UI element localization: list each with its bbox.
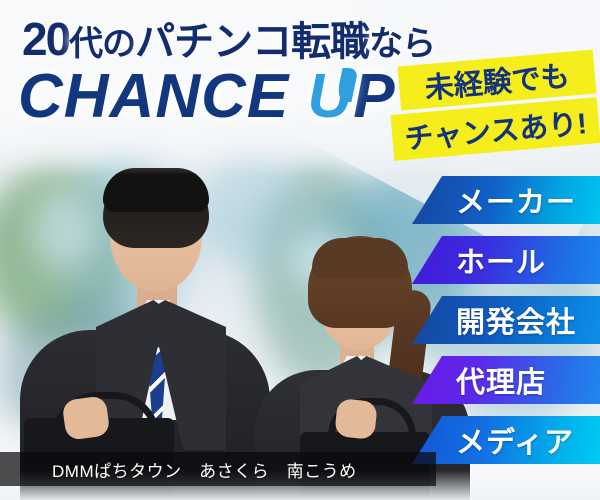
category-item-media[interactable]: メディア xyxy=(412,416,600,464)
category-item-development-company[interactable]: 開発会社 xyxy=(412,296,600,344)
category-item-hall[interactable]: ホール xyxy=(412,236,600,284)
male-model-hand xyxy=(61,395,110,441)
headline: 20代のパチンコ転職なら xyxy=(22,16,435,62)
headline-age-suffix: 代の xyxy=(69,25,135,63)
female-model-bangs xyxy=(312,238,408,278)
headline-age: 20 xyxy=(22,13,69,65)
logo-word-chance: CHANCE xyxy=(18,62,289,131)
logo-letter-p: P xyxy=(353,62,395,131)
category-list: メーカー ホール 開発会社 代理店 メディア xyxy=(412,176,600,476)
category-label-maker: メーカー xyxy=(456,179,576,221)
chance-up-logo: CHANCE U P xyxy=(18,66,396,128)
advertisement-banner[interactable]: 20代のパチンコ転職なら CHANCE U P 未経験でも チャンスあり! メー… xyxy=(0,0,600,500)
category-label-media: メディア xyxy=(456,419,574,461)
caption-text: DMMぱちタウン あさくら 南こうめ xyxy=(52,457,357,482)
category-item-agency[interactable]: 代理店 xyxy=(412,356,600,404)
headline-tail: なら xyxy=(369,25,435,63)
caption-bar: DMMぱちタウン あさくら 南こうめ xyxy=(0,452,436,486)
category-label-agency: 代理店 xyxy=(456,359,546,401)
logo-letter-u: U xyxy=(307,66,353,128)
headline-keyword: パチンコ転職 xyxy=(135,20,369,64)
female-model-hand xyxy=(334,398,378,440)
category-item-maker[interactable]: メーカー xyxy=(412,176,600,224)
category-label-hall: ホール xyxy=(456,239,546,281)
category-label-development-company: 開発会社 xyxy=(456,299,576,341)
